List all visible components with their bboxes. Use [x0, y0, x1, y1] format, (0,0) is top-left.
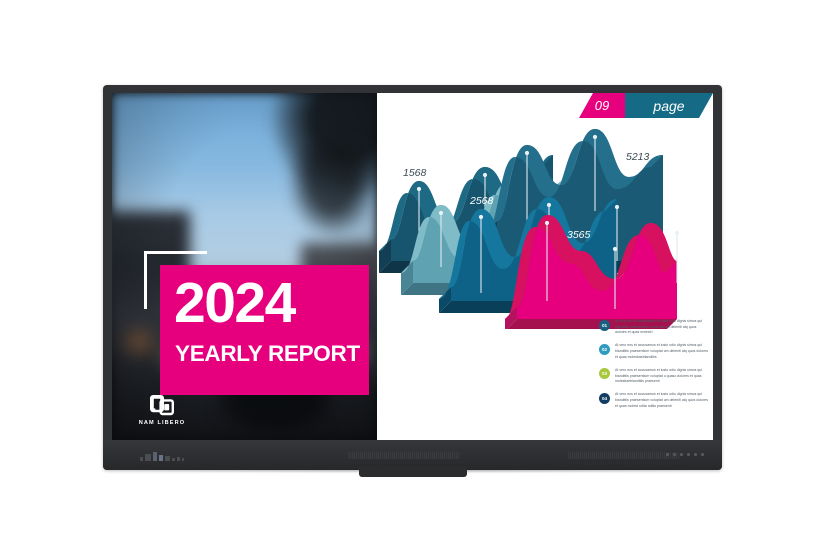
interactive-display-device: DISPLAY: [103, 85, 722, 470]
legend-badge-01: 01: [599, 320, 610, 331]
screenshot-stage: DISPLAY: [0, 0, 825, 550]
overlapping-squares-logo-icon: [149, 393, 175, 417]
data-label-3565: 3565: [567, 229, 590, 241]
sensor-notch: [359, 466, 467, 477]
data-label-2568: 2568: [470, 195, 493, 207]
legend-text-04: At vero eos et accusamus et iusto odio d…: [615, 392, 709, 409]
indicator-dots-icon[interactable]: [666, 453, 704, 456]
data-label-5213: 5213: [626, 151, 649, 163]
list-item[interactable]: 01 At vero eos et accusamus et iusto odi…: [599, 319, 709, 336]
list-item[interactable]: 04 At vero eos et accusamus et iusto odi…: [599, 392, 709, 409]
legend-badge-04: 04: [599, 393, 610, 404]
title-card: 2024 YEARLY REPORT: [160, 265, 369, 395]
device-bottom-bezel: [103, 440, 722, 470]
chart-svg: .stem { stroke:#dfe9ef; stroke-width:1.1…: [377, 111, 713, 329]
cover-slide[interactable]: 2024 YEARLY REPORT NAM LIBERO: [112, 93, 377, 440]
company-logo-text: NAM LIBERO: [133, 420, 191, 426]
display-screen[interactable]: DISPLAY: [112, 93, 713, 440]
speaker-grille-left: [348, 452, 460, 459]
legend-badge-02: 02: [599, 344, 610, 355]
data-label-1568: 1568: [403, 167, 426, 179]
report-subtitle: YEARLY REPORT: [175, 343, 360, 366]
speaker-grille-right: [568, 452, 680, 459]
port-cluster-icon[interactable]: [140, 450, 184, 461]
list-item[interactable]: 03 At vero eos et accusamus et iusto odi…: [599, 368, 709, 385]
legend-list: 01 At vero eos et accusamus et iusto odi…: [599, 319, 709, 417]
legend-text-03: At vero eos et accusamus et iusto odio d…: [615, 368, 709, 385]
list-item[interactable]: 02 At vero eos et accusamus et iusto odi…: [599, 343, 709, 360]
wave-area-chart: .stem { stroke:#dfe9ef; stroke-width:1.1…: [377, 111, 713, 329]
chart-slide[interactable]: 09 page .stem { stroke:#dfe9ef; stroke-w…: [377, 93, 713, 440]
legend-text-01: At vero eos et accusamus et iusto odio d…: [615, 319, 709, 336]
company-logo: NAM LIBERO: [133, 393, 191, 426]
legend-text-02: At vero eos et accusamus et iusto odio d…: [615, 343, 709, 360]
report-year: 2024: [174, 275, 295, 332]
legend-badge-03: 03: [599, 368, 610, 379]
